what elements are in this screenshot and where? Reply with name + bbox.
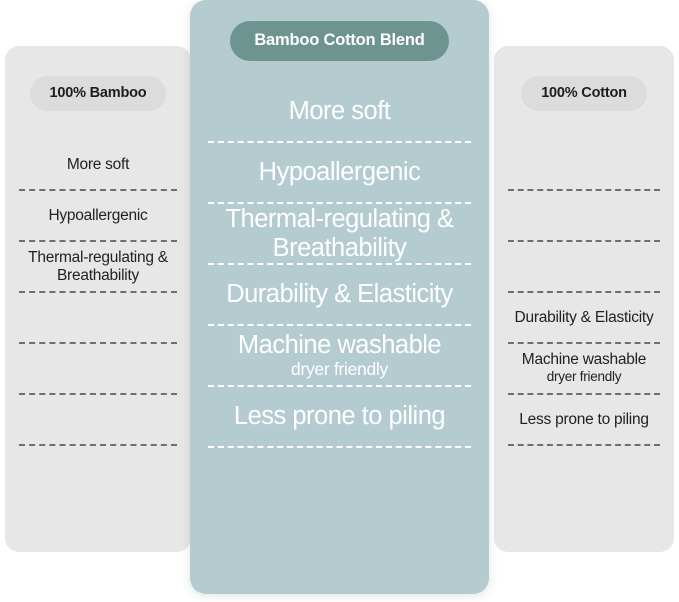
feature-label: Durability & Elasticity <box>226 280 453 309</box>
feature-row: Hypoallergenic <box>19 191 177 242</box>
feature-row-empty <box>19 344 177 395</box>
feature-list-cotton: Durability & Elasticity Machine washable… <box>508 140 660 446</box>
feature-row-empty <box>19 293 177 344</box>
feature-label-sub: dryer friendly <box>238 360 441 379</box>
feature-label-sub: dryer friendly <box>522 369 646 385</box>
feature-label: Machine washable dryer friendly <box>238 331 441 379</box>
column-badge-cotton: 100% Cotton <box>521 76 647 111</box>
feature-label: Durability & Elasticity <box>515 309 654 327</box>
feature-row: Less prone to piling <box>208 387 471 448</box>
comparison-column-cotton: 100% Cotton Durability & Elasticity Mach… <box>494 46 674 552</box>
feature-list-blend: More soft Hypoallergenic Thermal-regulat… <box>208 82 471 448</box>
feature-label: Hypoallergenic <box>48 207 147 225</box>
feature-row: Thermal-regulating & Breathability <box>208 204 471 265</box>
feature-row: More soft <box>208 82 471 143</box>
column-badge-blend: Bamboo Cotton Blend <box>230 21 448 61</box>
feature-row-empty <box>508 140 660 191</box>
feature-label: Thermal-regulating & Breathability <box>19 249 177 285</box>
feature-list-bamboo: More soft Hypoallergenic Thermal-regulat… <box>19 140 177 446</box>
comparison-column-bamboo: 100% Bamboo More soft Hypoallergenic The… <box>5 46 191 552</box>
badge-wrap-bamboo: 100% Bamboo <box>19 46 177 140</box>
badge-wrap-cotton: 100% Cotton <box>508 46 660 140</box>
feature-row-empty <box>508 191 660 242</box>
badge-wrap-blend: Bamboo Cotton Blend <box>208 0 471 82</box>
feature-row-empty <box>508 242 660 293</box>
comparison-infographic: 100% Bamboo More soft Hypoallergenic The… <box>0 0 679 602</box>
comparison-column-blend-highlighted: Bamboo Cotton Blend More soft Hypoallerg… <box>190 0 489 594</box>
feature-label: Less prone to piling <box>519 411 648 429</box>
feature-row: Thermal-regulating & Breathability <box>19 242 177 293</box>
feature-label-main: Machine washable <box>238 331 441 359</box>
feature-row: More soft <box>19 140 177 191</box>
feature-row: Machine washable dryer friendly <box>208 326 471 387</box>
feature-label: More soft <box>67 156 129 174</box>
feature-label: Hypoallergenic <box>259 158 421 187</box>
feature-row: Hypoallergenic <box>208 143 471 204</box>
column-badge-bamboo: 100% Bamboo <box>30 76 167 111</box>
feature-label-main: Machine washable <box>522 351 646 368</box>
feature-label: More soft <box>289 97 391 126</box>
feature-label: Thermal-regulating & Breathability <box>208 205 471 263</box>
feature-row: Less prone to piling <box>508 395 660 446</box>
feature-row: Durability & Elasticity <box>508 293 660 344</box>
feature-row: Machine washable dryer friendly <box>508 344 660 395</box>
feature-label: Less prone to piling <box>234 402 445 431</box>
feature-row: Durability & Elasticity <box>208 265 471 326</box>
feature-row-empty <box>19 395 177 446</box>
feature-label: Machine washable dryer friendly <box>522 351 646 385</box>
